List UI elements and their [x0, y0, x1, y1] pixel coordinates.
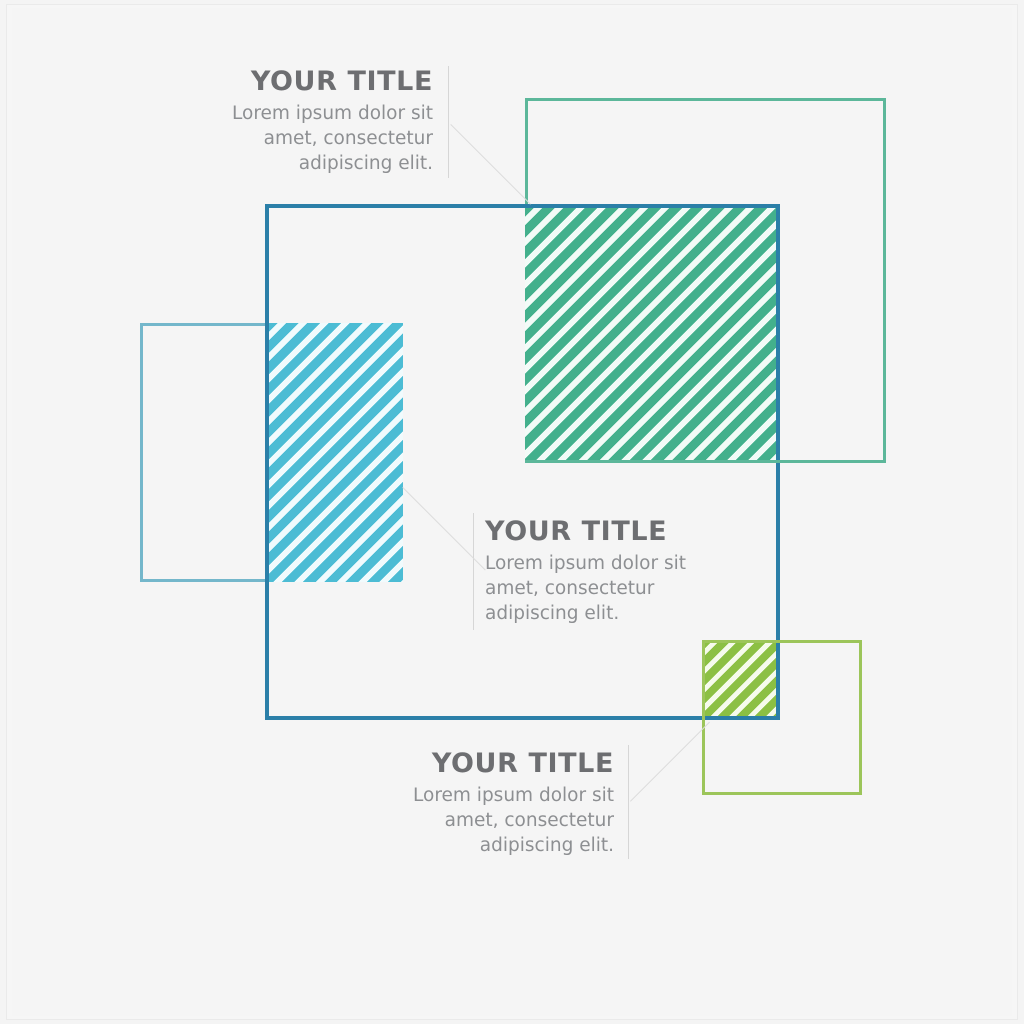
block-2-body: Lorem ipsum dolor sit amet, consectetur …: [485, 552, 707, 626]
text-block-3: YOUR TITLE Lorem ipsum dolor sit amet, c…: [396, 750, 614, 858]
block-3-title: YOUR TITLE: [396, 750, 614, 778]
block-1-title: YOUR TITLE: [215, 68, 433, 96]
block-3-body: Lorem ipsum dolor sit amet, consectetur …: [396, 784, 614, 858]
connector-divider-1: [448, 66, 449, 178]
text-block-2: YOUR TITLE Lorem ipsum dolor sit amet, c…: [485, 518, 707, 626]
block-1-body: Lorem ipsum dolor sit amet, consectetur …: [215, 102, 433, 176]
infographic-canvas: YOUR TITLE Lorem ipsum dolor sit amet, c…: [0, 0, 1024, 1024]
block-2-title: YOUR TITLE: [485, 518, 707, 546]
connector-divider-3: [628, 745, 629, 859]
connector-divider-2: [473, 513, 474, 630]
footer: ADAPTIVE BUSINESS INFOGRAPHICS Lorem ips…: [0, 900, 1024, 1020]
text-block-1: YOUR TITLE Lorem ipsum dolor sit amet, c…: [215, 68, 433, 176]
dark-blue-outline-rect: [265, 204, 780, 720]
